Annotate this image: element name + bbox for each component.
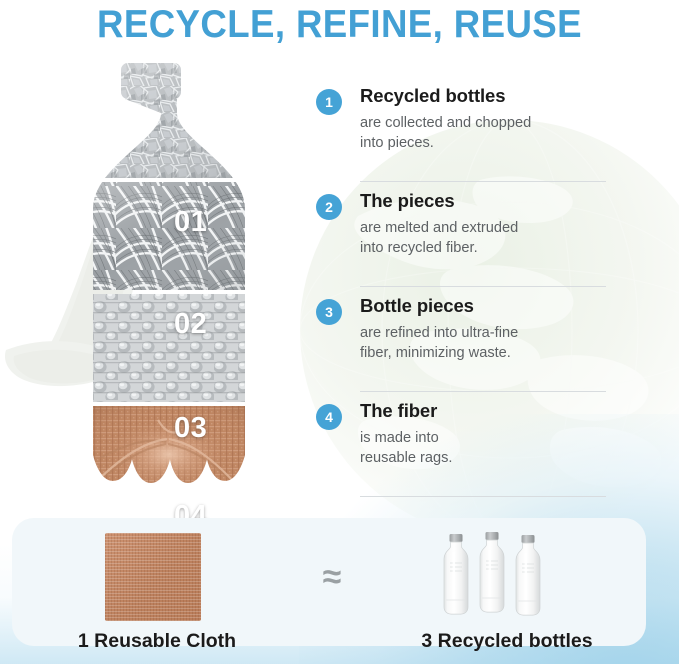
step-badge-3: 3 [316,299,342,325]
step-body-2: are melted and extruded into recycled fi… [360,219,606,258]
equivalence-summary-card: 1 Reusable Cloth ≈ [12,518,646,646]
bottle-band-03 [70,294,260,402]
step-item-2: 2 The pieces are melted and extruded int… [316,189,606,287]
bottle-band-02 [70,182,260,290]
three-plastic-bottles-icon [436,528,566,624]
bottles-label: 3 Recycled bottles [382,630,632,653]
page-title: RECYCLE, REFINE, REUSE [20,2,658,48]
step-item-1: 1 Recycled bottles are collected and cho… [316,84,606,182]
step-title-1: Recycled bottles [360,84,606,108]
step-divider-3 [360,391,606,392]
step-divider-2 [360,286,606,287]
step-badge-1: 1 [316,89,342,115]
step-item-3: 3 Bottle pieces are refined into ultra-f… [316,294,606,392]
step-divider-4 [360,496,606,497]
approximately-equal-icon: ≈ [300,560,364,594]
step-divider-1 [360,181,606,182]
step-body-3: are refined into ultra-fine fiber, minim… [360,324,606,363]
step-title-4: The fiber [360,399,606,423]
process-steps-list: 1 Recycled bottles are collected and cho… [316,84,606,497]
step-body-1: are collected and chopped into pieces. [360,114,606,153]
orange-cloth-swatch-icon [105,533,201,621]
step-title-2: The pieces [360,189,606,213]
step-title-3: Bottle pieces [360,294,606,318]
step-badge-2: 2 [316,194,342,220]
step-body-4: is made into reusable rags. [360,429,606,468]
bottle-band-01 [70,60,260,178]
step-item-4: 4 The fiber is made into reusable rags. [316,399,606,497]
bottle-band-04 [70,406,260,510]
bottle-illustration: 01 02 03 04 [70,60,260,510]
cloth-label: 1 Reusable Cloth [32,630,282,653]
step-badge-4: 4 [316,404,342,430]
infographic-root: RECYCLE, REFINE, REUSE [0,0,679,664]
